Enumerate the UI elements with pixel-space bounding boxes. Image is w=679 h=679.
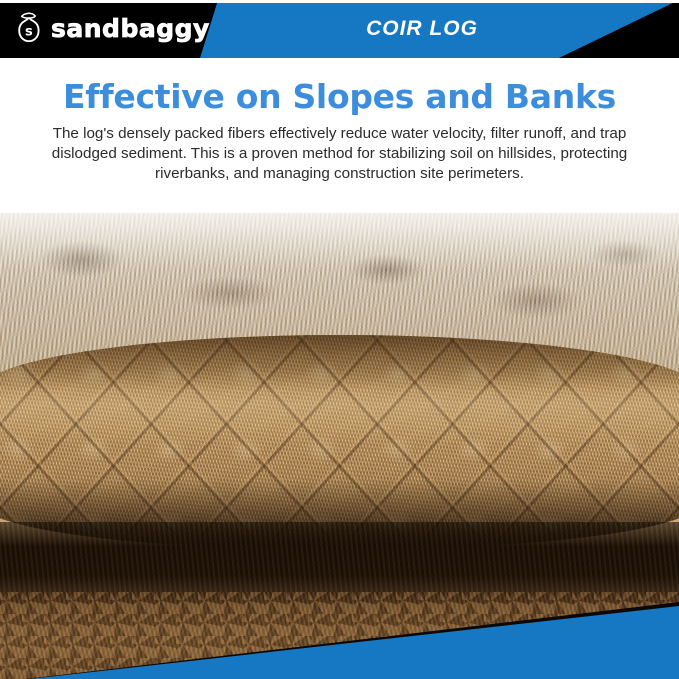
svg-text:s: s bbox=[25, 24, 33, 39]
description-paragraph: The log's densely packed fibers effectiv… bbox=[45, 124, 635, 185]
header-bar: s sandbaggy COIR LOG bbox=[0, 0, 679, 58]
product-title: COIR LOG bbox=[232, 0, 612, 58]
page-title: Effective on Slopes and Banks bbox=[0, 80, 679, 115]
ground-soil-texture bbox=[0, 592, 679, 679]
ground-soil-region bbox=[0, 592, 679, 679]
brand-logo[interactable]: s sandbaggy bbox=[16, 11, 210, 45]
coir-log-top-shadow bbox=[0, 335, 679, 391]
product-photo bbox=[0, 150, 679, 679]
brand-logo-text: sandbaggy bbox=[51, 16, 210, 41]
text-block: Effective on Slopes and Banks The log's … bbox=[0, 58, 679, 213]
top-edge-margin bbox=[0, 0, 679, 3]
product-marketing-image: s sandbaggy COIR LOG Effective on Slopes… bbox=[0, 0, 679, 679]
coir-log-region bbox=[0, 335, 679, 550]
sandbag-icon: s bbox=[16, 11, 46, 45]
